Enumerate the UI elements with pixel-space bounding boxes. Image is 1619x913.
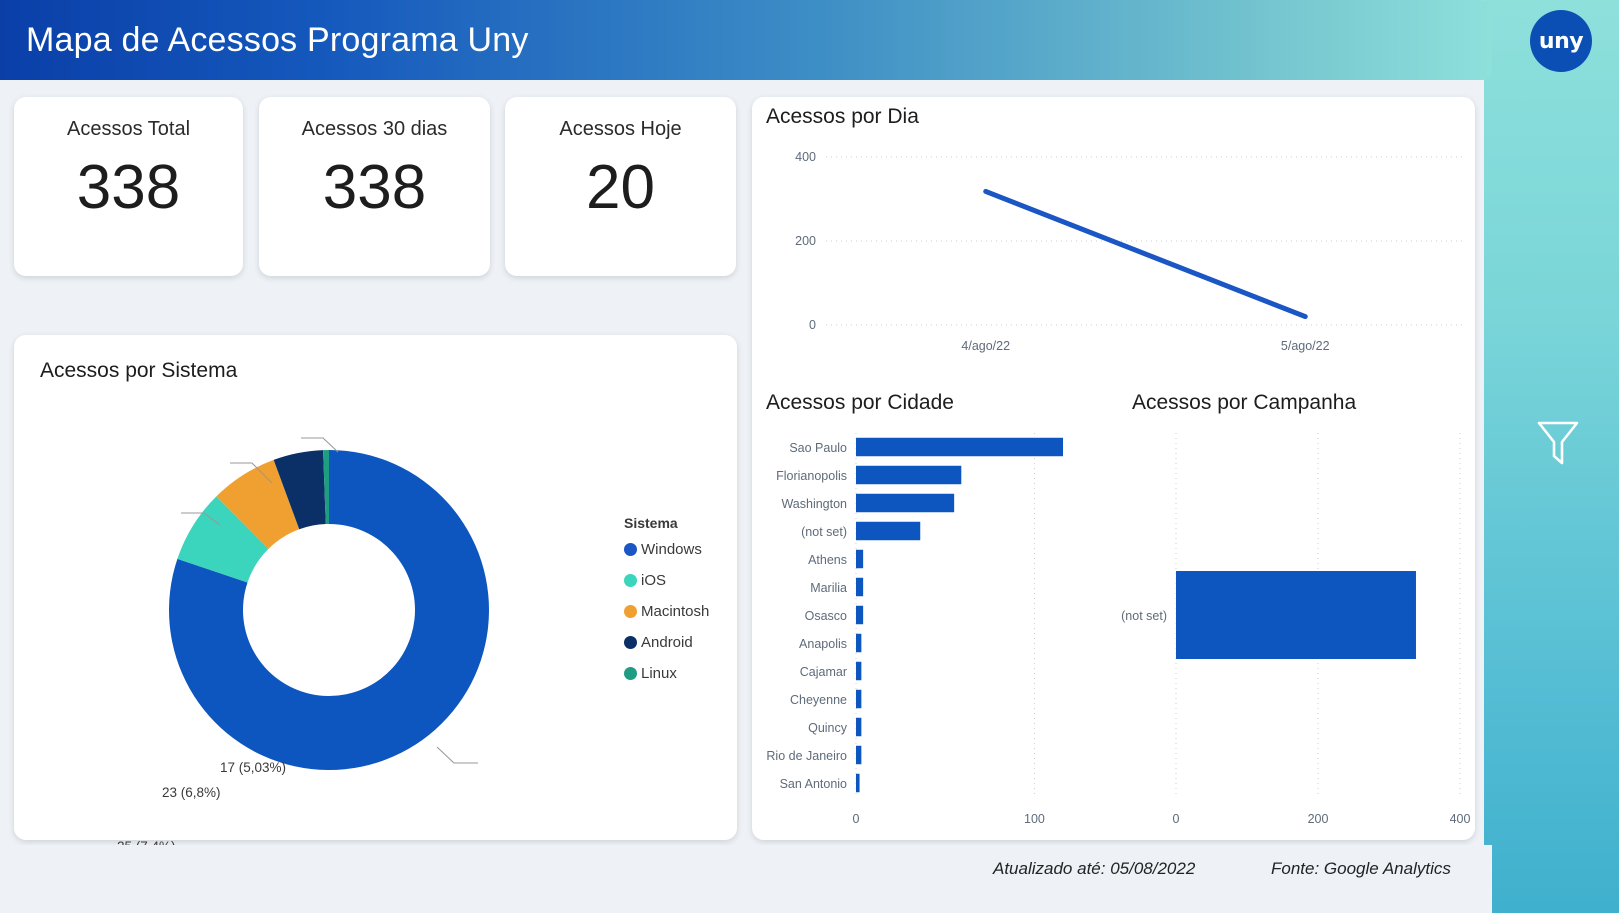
legend-swatch-android (624, 636, 637, 649)
x-axis-tick: 200 (1308, 812, 1329, 826)
kpi-card-acessos-total[interactable]: Acessos Total 338 (14, 97, 243, 276)
bar-category-label: Rio de Janeiro (766, 749, 847, 763)
bar[interactable] (856, 606, 863, 624)
bar-category-label: Sao Paulo (789, 441, 847, 455)
x-axis-tick: 100 (1024, 812, 1045, 826)
bar-category-label: San Antonio (780, 777, 847, 791)
bar-category-label: Osasco (805, 609, 847, 623)
bar[interactable] (856, 634, 861, 652)
chart-card-acessos-por-sistema: Acessos por Sistema 17 (5,03%) 23 (6,8%)… (14, 335, 737, 840)
legend-swatch-windows (624, 543, 637, 556)
x-axis-tick: 4/ago/22 (961, 339, 1010, 353)
bar[interactable] (856, 662, 861, 680)
chart-title-dia: Acessos por Dia (766, 105, 919, 129)
legend-swatch-macintosh (624, 605, 637, 618)
donut-legend: Sistema Windows iOS Macintosh Android Li… (624, 515, 709, 696)
legend-item-windows[interactable]: Windows (624, 541, 709, 558)
kpi-label: Acessos Total (67, 118, 190, 141)
bar[interactable] (856, 746, 861, 764)
legend-label: iOS (641, 572, 666, 589)
legend-item-ios[interactable]: iOS (624, 572, 709, 589)
bar[interactable] (856, 690, 861, 708)
bar[interactable] (856, 466, 961, 484)
legend-label: Linux (641, 665, 677, 682)
line-series[interactable] (986, 191, 1306, 316)
page-title: Mapa de Acessos Programa Uny (26, 21, 529, 60)
legend-label: Windows (641, 541, 702, 558)
bar[interactable] (856, 578, 863, 596)
footer-updated-text: Atualizado até: 05/08/2022 (993, 859, 1195, 879)
bar[interactable] (856, 494, 954, 512)
y-axis-tick: 400 (795, 150, 816, 164)
bar-category-label: (not set) (1121, 609, 1167, 623)
kpi-label: Acessos 30 dias (302, 118, 448, 141)
bar[interactable] (856, 718, 861, 736)
bar-category-label: Marilia (810, 581, 847, 595)
bar-category-label: Athens (808, 553, 847, 567)
filter-funnel-icon[interactable] (1535, 418, 1581, 470)
dashboard-page: uny Mapa de Acessos Programa Uny Acessos… (0, 0, 1619, 913)
bar-category-label: Anapolis (799, 637, 847, 651)
bar[interactable] (1176, 571, 1416, 659)
x-axis-tick: 0 (853, 812, 860, 826)
bar-category-label: Cheyenne (790, 693, 847, 707)
y-axis-tick: 0 (809, 318, 816, 332)
right-sidebar: uny (1484, 0, 1619, 913)
bar[interactable] (856, 774, 860, 792)
logo-text: uny (1539, 29, 1583, 54)
kpi-label: Acessos Hoje (559, 118, 681, 141)
chart-card-right-panel: Acessos por Dia 02004004/ago/225/ago/22 … (752, 97, 1475, 840)
bar-category-label: Cajamar (800, 665, 847, 679)
bar-chart-acessos-por-campanha[interactable]: 0200400(not set) (1112, 427, 1475, 837)
x-axis-tick: 0 (1173, 812, 1180, 826)
legend-swatch-ios (624, 574, 637, 587)
legend-label: Android (641, 634, 693, 651)
x-axis-tick: 400 (1450, 812, 1471, 826)
kpi-value: 20 (586, 157, 655, 219)
bar[interactable] (856, 550, 863, 568)
kpi-value: 338 (323, 157, 426, 219)
bar-category-label: Quincy (808, 721, 848, 735)
legend-swatch-linux (624, 667, 637, 680)
bar-category-label: Florianopolis (776, 469, 847, 483)
y-axis-tick: 200 (795, 234, 816, 248)
kpi-value: 338 (77, 157, 180, 219)
line-chart-acessos-por-dia[interactable]: 02004004/ago/225/ago/22 (752, 135, 1475, 385)
legend-title: Sistema (624, 515, 709, 531)
legend-item-android[interactable]: Android (624, 634, 709, 651)
bar[interactable] (856, 522, 920, 540)
footer-source-text: Fonte: Google Analytics (1271, 859, 1451, 879)
bar-category-label: Washington (781, 497, 847, 511)
footer: Atualizado até: 05/08/2022 Fonte: Google… (0, 845, 1492, 913)
uny-logo: uny (1530, 10, 1592, 72)
chart-title-campanha: Acessos por Campanha (1132, 391, 1356, 415)
legend-item-linux[interactable]: Linux (624, 665, 709, 682)
bar[interactable] (856, 438, 1063, 456)
legend-item-macintosh[interactable]: Macintosh (624, 603, 709, 620)
kpi-card-acessos-hoje[interactable]: Acessos Hoje 20 (505, 97, 736, 276)
legend-label: Macintosh (641, 603, 709, 620)
x-axis-tick: 5/ago/22 (1281, 339, 1330, 353)
bar-category-label: (not set) (801, 525, 847, 539)
chart-title-cidade: Acessos por Cidade (766, 391, 954, 415)
bar-chart-acessos-por-cidade[interactable]: 0100Sao PauloFlorianopolisWashington(not… (752, 427, 1112, 837)
kpi-card-acessos-30-dias[interactable]: Acessos 30 dias 338 (259, 97, 490, 276)
page-header: Mapa de Acessos Programa Uny (0, 0, 1492, 80)
